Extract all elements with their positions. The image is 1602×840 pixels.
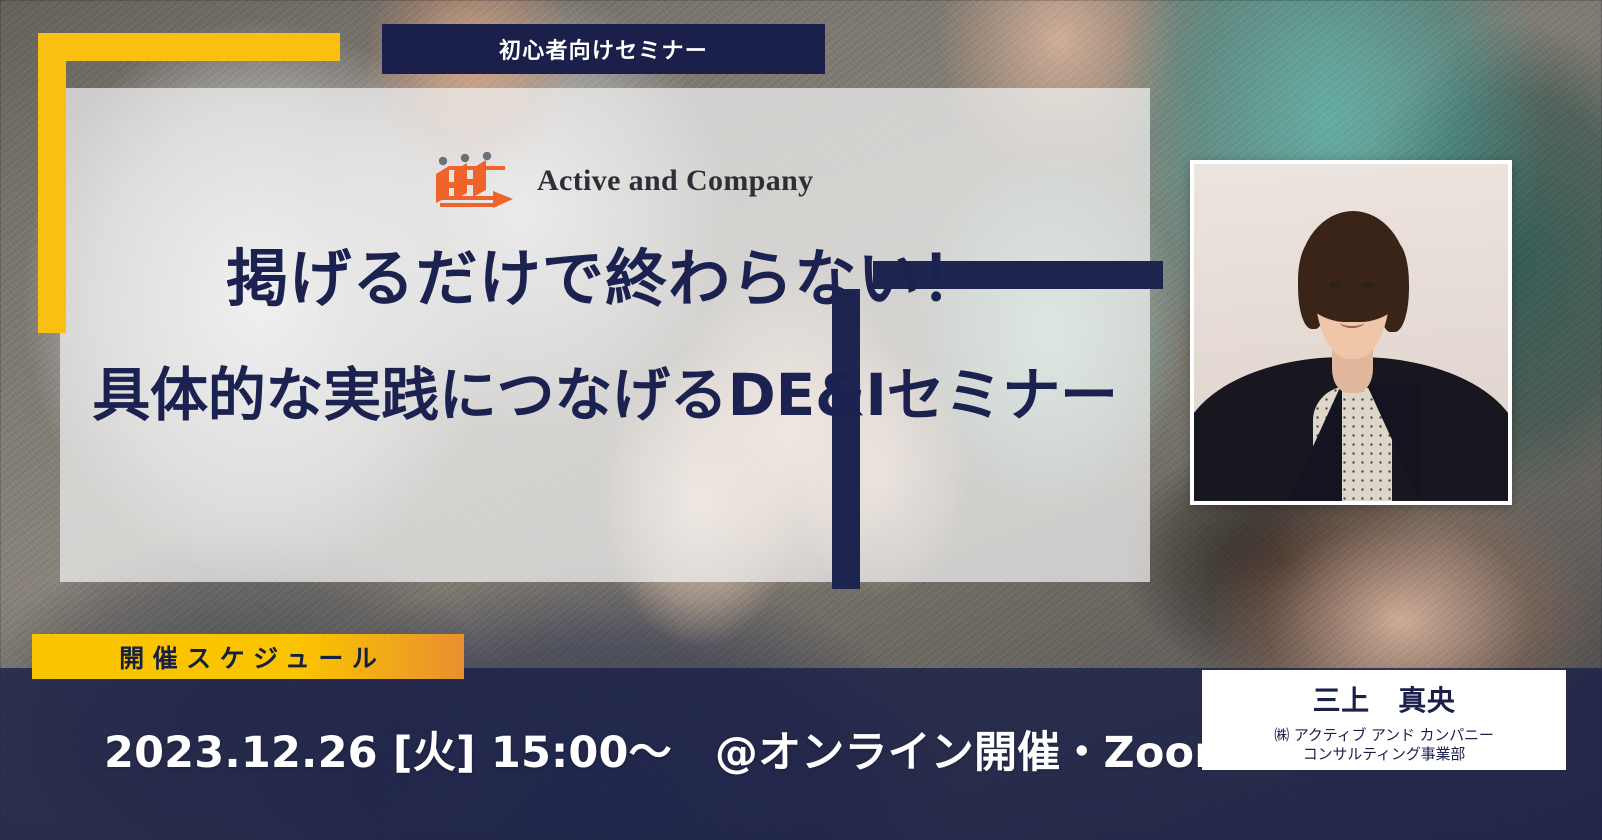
seminar-banner: 初心者向けセミナー Active and Company 掲げるだけで終わらない…	[0, 0, 1602, 840]
portrait-eye-left	[1329, 282, 1340, 288]
active-and-company-logo-icon	[427, 152, 519, 210]
headline-line-1: 掲げるだけで終わらない！	[60, 246, 1150, 313]
headline-line-2: 具体的な実践につなげるDE&Iセミナー	[60, 365, 1150, 426]
portrait-smile	[1340, 317, 1364, 328]
speaker-name: 三上 真央	[1313, 679, 1456, 719]
speaker-portrait	[1190, 160, 1512, 505]
schedule-datetime: 2023.12.26 [火] 15:00〜 @オンライン開催・Zoom	[104, 718, 1239, 780]
schedule-ribbon: 開催スケジュール	[32, 634, 464, 679]
brand-name: Active and Company	[537, 164, 814, 198]
headline: 掲げるだけで終わらない！ 具体的な実践につなげるDE&Iセミナー	[60, 246, 1150, 426]
speaker-department: コンサルティング事業部	[1303, 745, 1465, 763]
portrait-eye-right	[1362, 282, 1373, 288]
speaker-company: ㈱ アクティブ アンド カンパニー	[1274, 726, 1494, 744]
yellow-bracket-horizontal	[38, 33, 340, 61]
seminar-level-badge-label: 初心者向けセミナー	[499, 33, 708, 65]
seminar-level-badge: 初心者向けセミナー	[382, 24, 825, 74]
schedule-ribbon-label: 開催スケジュール	[111, 639, 386, 675]
portrait-lapel-left	[1288, 383, 1342, 501]
speaker-name-card: 三上 真央 ㈱ アクティブ アンド カンパニー コンサルティング事業部	[1202, 670, 1566, 770]
brand-logo: Active and Company	[427, 152, 814, 210]
portrait-lapel-right	[1366, 383, 1420, 501]
